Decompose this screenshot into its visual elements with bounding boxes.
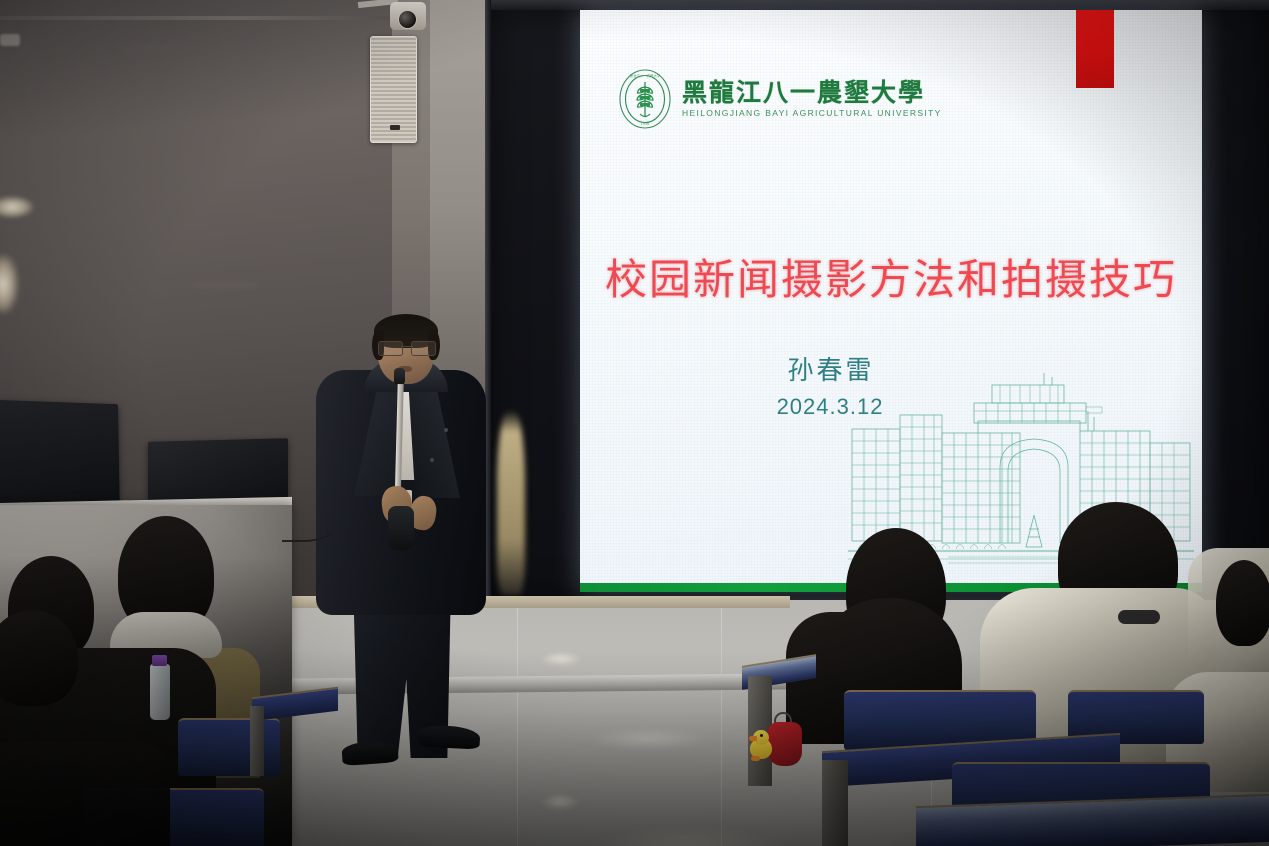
university-wheat-emblem-icon: 黑龙江八一农垦大学 1958	[618, 68, 672, 130]
svg-text:1958: 1958	[641, 122, 650, 126]
logo-english-name: HEILONGJIANG BAYI AGRICULTURAL UNIVERSIT…	[682, 108, 942, 118]
microphone-head-icon	[394, 368, 405, 385]
university-logo: 黑龙江八一农垦大学 1958 黑龍江八一農墾大學 HEILONGJIANG BA…	[618, 68, 942, 130]
logo-chinese-name: 黑龍江八一農墾大學	[682, 80, 942, 105]
blackboard-light-glare	[497, 410, 525, 595]
water-bottle	[150, 664, 170, 720]
presenter-speaking	[310, 318, 500, 788]
desk-right-mid-support	[822, 760, 848, 846]
ceiling-rail	[0, 16, 392, 20]
duck-plush-toy-icon	[748, 730, 774, 760]
lecture-hall-scene: 黑龙江八一农垦大学 1958 黑龍江八一農墾大學 HEILONGJIANG BA…	[0, 0, 1269, 846]
slide-title: 校园新闻摄影方法和拍摄技巧	[580, 246, 1202, 307]
svg-text:黑龙江八一农垦大学: 黑龙江八一农垦大学	[630, 73, 661, 78]
camera-lens-icon	[398, 10, 417, 29]
slide-red-accent-bar	[1076, 10, 1114, 88]
microphone-grip	[388, 506, 414, 550]
blackboard-top-trim	[485, 0, 1269, 10]
chair-back-left[interactable]	[178, 718, 280, 776]
student-beige-coat-head	[1216, 560, 1269, 646]
speaker-led-icon	[390, 125, 400, 130]
wall-light-reflection-lower	[0, 255, 18, 313]
wall-mark	[120, 44, 180, 52]
jacket-strap-detail	[1118, 610, 1160, 624]
wall-fixture	[0, 34, 20, 46]
eyeglasses-icon	[378, 341, 436, 355]
student-front-left-silhouette	[0, 742, 170, 846]
desk-left-support	[250, 706, 264, 776]
wall-mark	[190, 282, 260, 289]
podium-monitor-left[interactable]	[0, 400, 120, 514]
presenter-shoe-right	[417, 724, 480, 749]
presenter-shoe-left	[341, 740, 398, 766]
water-bottle-cap-icon	[152, 655, 167, 666]
